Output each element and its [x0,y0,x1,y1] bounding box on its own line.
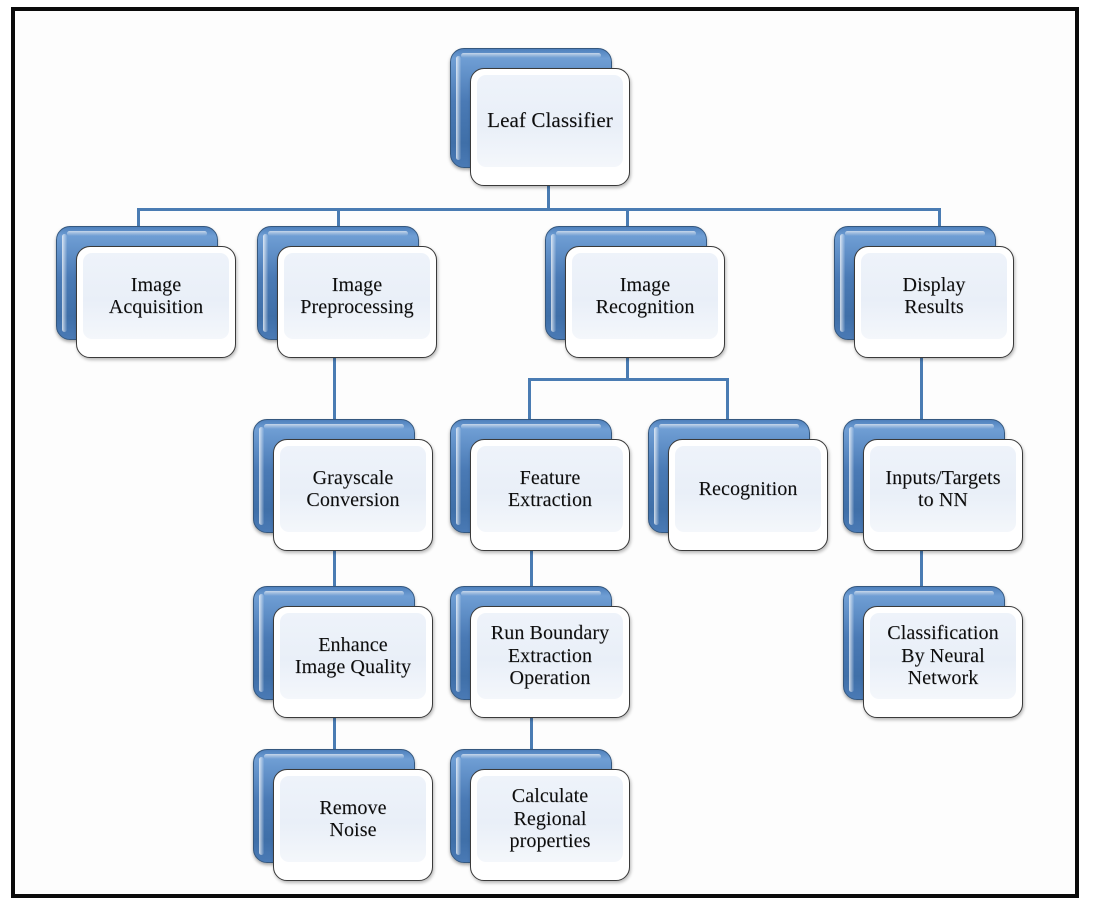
node-inner-panel: Calculate Regional properties [477,776,623,862]
node-display-results[interactable]: Display Results [834,226,994,338]
node-inner-panel: Feature Extraction [477,446,623,532]
node-remove-noise[interactable]: Remove Noise [253,749,413,861]
node-inner-panel: Image Recognition [572,253,718,339]
node-front-card: Classification By Neural Network [863,606,1023,718]
node-label: Feature Extraction [504,467,596,512]
connector-pre-to-gray [333,358,336,422]
diagram-frame-border: Leaf ClassifierImage AcquisitionImage Pr… [11,7,1079,898]
node-front-card: Recognition [668,439,828,551]
node-grayscale-conversion[interactable]: Grayscale Conversion [253,419,413,531]
node-label: Calculate Regional properties [506,785,595,852]
node-front-card: Calculate Regional properties [470,769,630,881]
node-inner-panel: Classification By Neural Network [870,613,1016,699]
node-label: Image Recognition [592,274,699,319]
node-inner-panel: Remove Noise [280,776,426,862]
node-front-card: Run Boundary Extraction Operation [470,606,630,718]
node-inner-panel: Display Results [861,253,1007,339]
node-label: Run Boundary Extraction Operation [487,622,613,689]
node-front-card: Enhance Image Quality [273,606,433,718]
connector-drop-recog [726,378,729,420]
node-inner-panel: Inputs/Targets to NN [870,446,1016,532]
node-label: Inputs/Targets to NN [881,467,1004,512]
node-label: Enhance Image Quality [291,634,415,679]
node-inner-panel: Image Acquisition [83,253,229,339]
node-label: Leaf Classifier [483,109,617,133]
node-label: Image Acquisition [105,274,207,319]
node-label: Grayscale Conversion [302,467,403,512]
node-label: Display Results [899,274,970,319]
node-label: Remove Noise [315,797,390,842]
node-front-card: Remove Noise [273,769,433,881]
node-front-card: Feature Extraction [470,439,630,551]
node-inner-panel: Image Preprocessing [284,253,430,339]
connector-fanout-bar-1 [137,208,941,211]
diagram-canvas: Leaf ClassifierImage AcquisitionImage Pr… [0,0,1099,902]
node-run-boundary-extraction[interactable]: Run Boundary Extraction Operation [450,586,610,698]
node-recognition[interactable]: Recognition [648,419,808,531]
node-front-card: Display Results [854,246,1014,358]
node-inner-panel: Run Boundary Extraction Operation [477,613,623,699]
node-inner-panel: Recognition [675,446,821,532]
node-image-preprocessing[interactable]: Image Preprocessing [257,226,417,338]
node-inputs-targets-to-nn[interactable]: Inputs/Targets to NN [843,419,1003,531]
node-image-acquisition[interactable]: Image Acquisition [56,226,216,338]
node-inner-panel: Leaf Classifier [477,75,623,167]
connector-fanout-bar-2 [528,378,728,381]
connector-recog-stem [626,358,629,380]
node-front-card: Image Acquisition [76,246,236,358]
node-front-card: Image Preprocessing [277,246,437,358]
node-front-card: Inputs/Targets to NN [863,439,1023,551]
node-front-card: Image Recognition [565,246,725,358]
node-label: Image Preprocessing [296,274,418,319]
node-front-card: Leaf Classifier [470,68,630,186]
node-leaf-classifier[interactable]: Leaf Classifier [450,48,610,166]
node-calculate-regional[interactable]: Calculate Regional properties [450,749,610,861]
connector-drop-feature [528,378,531,420]
node-inner-panel: Grayscale Conversion [280,446,426,532]
node-image-recognition[interactable]: Image Recognition [545,226,705,338]
node-classification-by-nn[interactable]: Classification By Neural Network [843,586,1003,698]
node-feature-extraction[interactable]: Feature Extraction [450,419,610,531]
node-inner-panel: Enhance Image Quality [280,613,426,699]
node-front-card: Grayscale Conversion [273,439,433,551]
node-label: Recognition [695,478,802,500]
connector-display-to-inputs [920,358,923,422]
node-enhance-image-quality[interactable]: Enhance Image Quality [253,586,413,698]
node-label: Classification By Neural Network [883,622,1002,689]
